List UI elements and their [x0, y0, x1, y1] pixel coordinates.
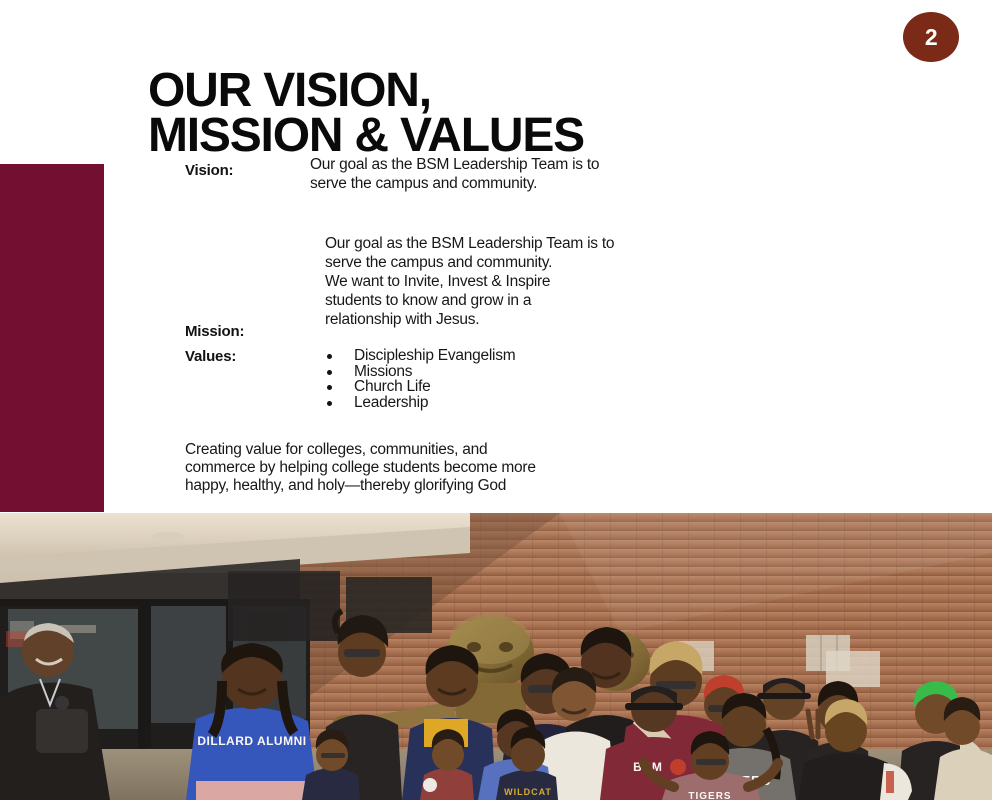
- vision-label: Vision:: [185, 162, 233, 179]
- page-title: OUR VISION, MISSION & VALUES: [148, 68, 848, 158]
- values-section: Values: Discipleship Evangelism Missions…: [185, 348, 905, 410]
- group-photo: Large group photo of BSM students and le…: [0, 513, 992, 800]
- values-label: Values:: [185, 348, 236, 365]
- mission-label: Mission:: [185, 323, 244, 340]
- list-item: Discipleship Evangelism: [327, 348, 905, 364]
- values-list: Discipleship Evangelism Missions Church …: [327, 348, 905, 410]
- accent-block: [0, 164, 104, 512]
- vision-text: Our goal as the BSM Leadership Team is t…: [310, 155, 905, 193]
- list-item: Leadership: [327, 395, 905, 411]
- group-photo-illustration: DILLARD ALUMNI: [0, 513, 992, 800]
- page-number-badge: 2: [903, 12, 959, 62]
- slide-root: 2 OUR VISION, MISSION & VALUES Vision: O…: [0, 0, 992, 800]
- page-number-label: 2: [925, 26, 937, 49]
- mission-section: Mission: Our goal as the BSM Leadership …: [185, 234, 905, 329]
- vision-section: Vision: Our goal as the BSM Leadership T…: [185, 155, 905, 193]
- closing-statement: Creating value for colleges, communities…: [185, 441, 905, 495]
- list-item: Missions: [327, 364, 905, 380]
- content-area: Vision: Our goal as the BSM Leadership T…: [185, 155, 905, 495]
- mission-text: Our goal as the BSM Leadership Team is t…: [325, 234, 905, 329]
- list-item: Church Life: [327, 379, 905, 395]
